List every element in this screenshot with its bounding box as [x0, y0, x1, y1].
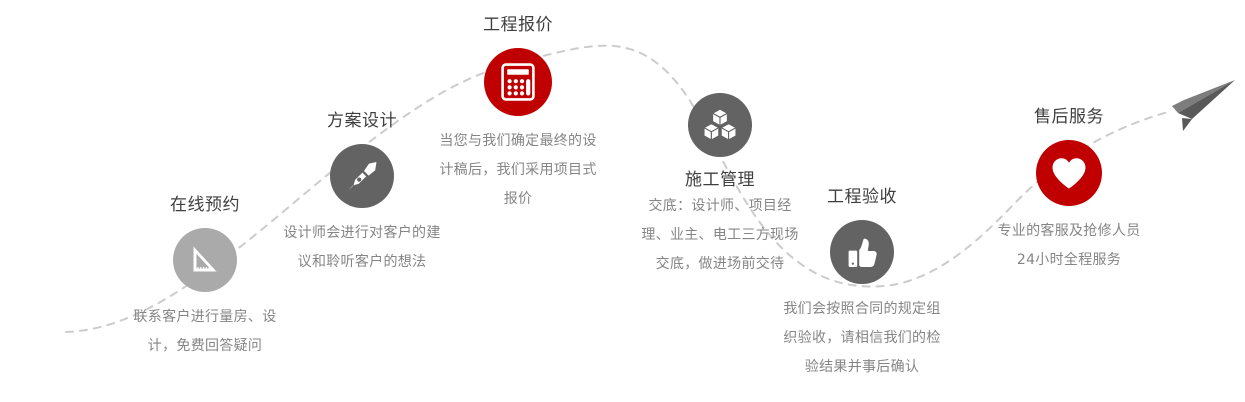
step-2-icon-circle[interactable] [330, 144, 394, 208]
step-3-description: 当您与我们确定最终的设计稿后，我们采用项目式报价 [438, 127, 598, 214]
step-5-icon-circle[interactable] [830, 220, 894, 284]
step-5-description: 我们会按照合同的规定组织验收，请相信我们的检验结果并事后确认 [782, 295, 942, 382]
heart-icon [1050, 155, 1088, 191]
step-3-icon-circle[interactable] [484, 48, 552, 116]
process-step-6[interactable]: 售后服务 专业的客服及抢修人员24小时全程服务 [969, 105, 1169, 275]
set-square-ruler-icon [186, 241, 224, 279]
thumbs-up-icon [843, 233, 881, 271]
step-6-icon-circle[interactable] [1036, 140, 1102, 206]
boxes-cubes-icon [700, 106, 740, 144]
step-5-title: 工程验收 [827, 185, 897, 209]
step-1-description: 联系客户进行量房、设计，免费回答疑问 [125, 303, 285, 361]
step-1-icon-circle[interactable] [173, 228, 237, 292]
process-flow-diagram: 在线预约 联系客户进行量房、设计，免费回答疑问 [0, 0, 1245, 402]
step-1-title: 在线预约 [170, 193, 240, 217]
step-4-icon-circle[interactable] [688, 93, 752, 157]
process-step-5[interactable]: 工程验收 我们会按照合同的规定组织验收，请相信我们的检验结果并事后确认 [762, 185, 962, 382]
step-2-title: 方案设计 [327, 109, 397, 133]
step-6-title: 售后服务 [1034, 105, 1104, 129]
step-6-description: 专业的客服及抢修人员24小时全程服务 [989, 217, 1149, 275]
paper-plane-icon [1152, 78, 1238, 142]
process-step-3[interactable]: 工程报价 [418, 13, 618, 214]
fountain-pen-nib-icon [343, 157, 381, 195]
step-4-title: 施工管理 [685, 168, 755, 192]
step-2-description: 设计师会进行对客户的建议和聆听客户的想法 [282, 219, 442, 277]
step-3-title: 工程报价 [483, 13, 553, 37]
calculator-icon [500, 62, 536, 102]
